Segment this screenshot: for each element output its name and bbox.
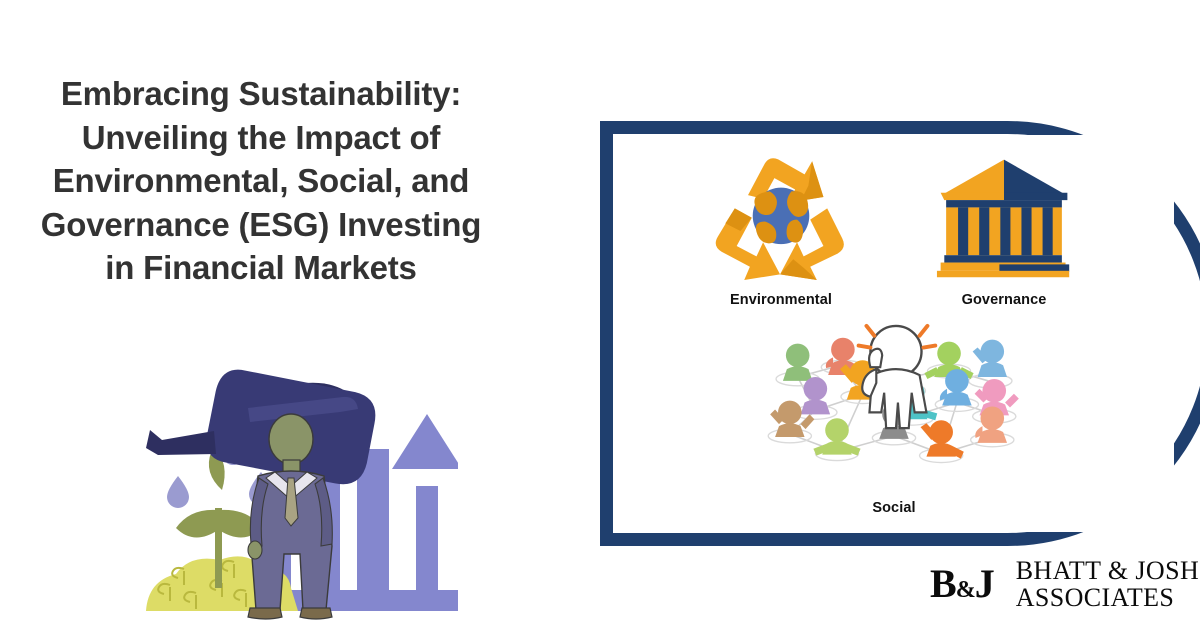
- esg-pillar-governance: Governance: [899, 140, 1109, 308]
- recycle-globe-icon: [676, 140, 886, 280]
- esg-label-governance: Governance: [899, 292, 1109, 308]
- logo-firm-name: BHATT & JOSHI: [1016, 557, 1200, 584]
- classical-building-icon: [899, 140, 1109, 280]
- logo-monogram: B&J: [930, 564, 1005, 604]
- logo-monogram-amp: &: [956, 577, 975, 603]
- brand-logo: B&J BHATT & JOSHI ASSOCIATES: [930, 553, 1180, 615]
- people-network-icon: [729, 320, 1059, 492]
- esg-growth-illustration: [128, 368, 458, 620]
- esg-pillar-social: Social: [729, 320, 1059, 516]
- logo-firm-suffix: ASSOCIATES: [1016, 584, 1200, 611]
- leader-figure-icon: [859, 326, 936, 428]
- logo-wordmark: BHATT & JOSHI ASSOCIATES: [1016, 557, 1200, 611]
- page-title: Embracing Sustainability: Unveiling the …: [22, 72, 500, 290]
- esg-pillar-environmental: Environmental: [676, 140, 886, 308]
- hero-art-svg: [128, 368, 458, 620]
- logo-monogram-b: B: [930, 561, 956, 606]
- logo-monogram-j: J: [975, 561, 994, 606]
- esg-label-social: Social: [729, 500, 1059, 516]
- esg-label-environmental: Environmental: [676, 292, 886, 308]
- poster-canvas: Embracing Sustainability: Unveiling the …: [0, 0, 1200, 628]
- esg-panel-content: Environmental: [614, 135, 1174, 532]
